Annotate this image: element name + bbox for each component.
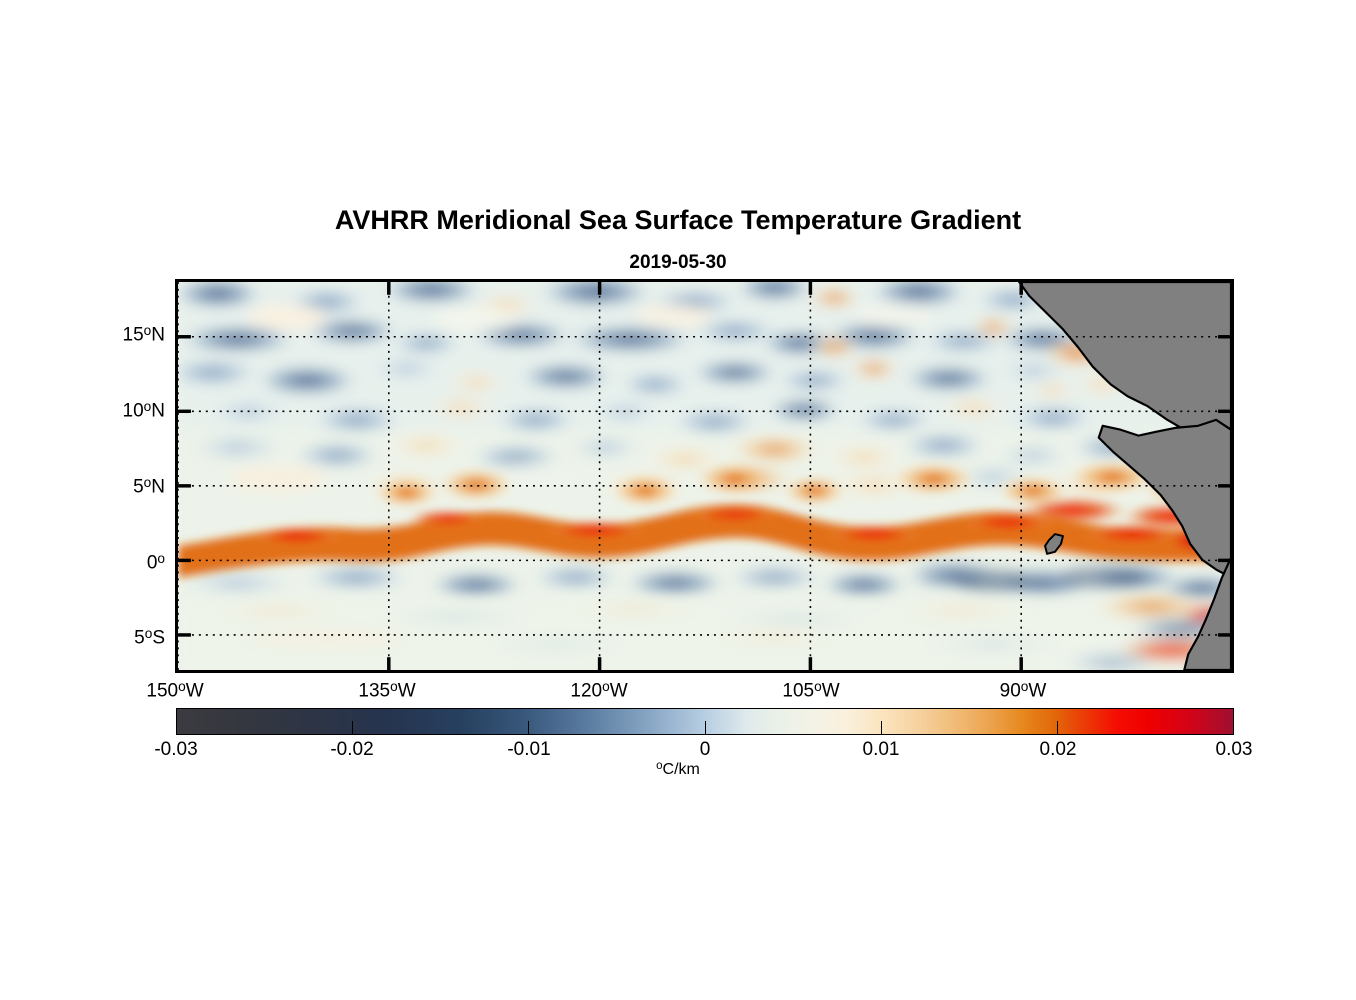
- y-tick-label: 10oN: [45, 399, 165, 423]
- colorbar-tick-label: 0: [635, 739, 775, 761]
- colorbar-tick-label: 0.01: [811, 739, 951, 761]
- colorbar-tick-label: -0.01: [459, 739, 599, 761]
- x-tick-label: 105oW: [731, 679, 891, 703]
- map-panel[interactable]: [175, 279, 1234, 673]
- sst-gradient-heatmap: [178, 282, 1231, 670]
- y-tick-label: 5oS: [45, 626, 165, 650]
- colorbar-tick-marks: [176, 708, 1234, 735]
- y-tick-label: 15oN: [45, 323, 165, 347]
- y-tick-label: 5oN: [45, 475, 165, 499]
- x-tick-label: 90oW: [943, 679, 1103, 703]
- x-tick-label: 135oW: [307, 679, 467, 703]
- y-tick-label: 0o: [45, 551, 165, 575]
- colorbar-unit-label: oC/km: [0, 760, 1356, 779]
- colorbar-tick-label: 0.02: [988, 739, 1128, 761]
- x-tick-label: 150oW: [95, 679, 255, 703]
- colorbar-tick-label: -0.02: [282, 739, 422, 761]
- x-tick-label: 120oW: [519, 679, 679, 703]
- figure-date-subtitle: 2019-05-30: [0, 252, 1356, 274]
- colorbar-tick-label: -0.03: [106, 739, 246, 761]
- figure-canvas: AVHRR Meridional Sea Surface Temperature…: [0, 0, 1356, 1000]
- page-title: AVHRR Meridional Sea Surface Temperature…: [0, 205, 1356, 236]
- colorbar-tick-label: 0.03: [1164, 739, 1304, 761]
- southern-quiet-zone: [178, 593, 1231, 670]
